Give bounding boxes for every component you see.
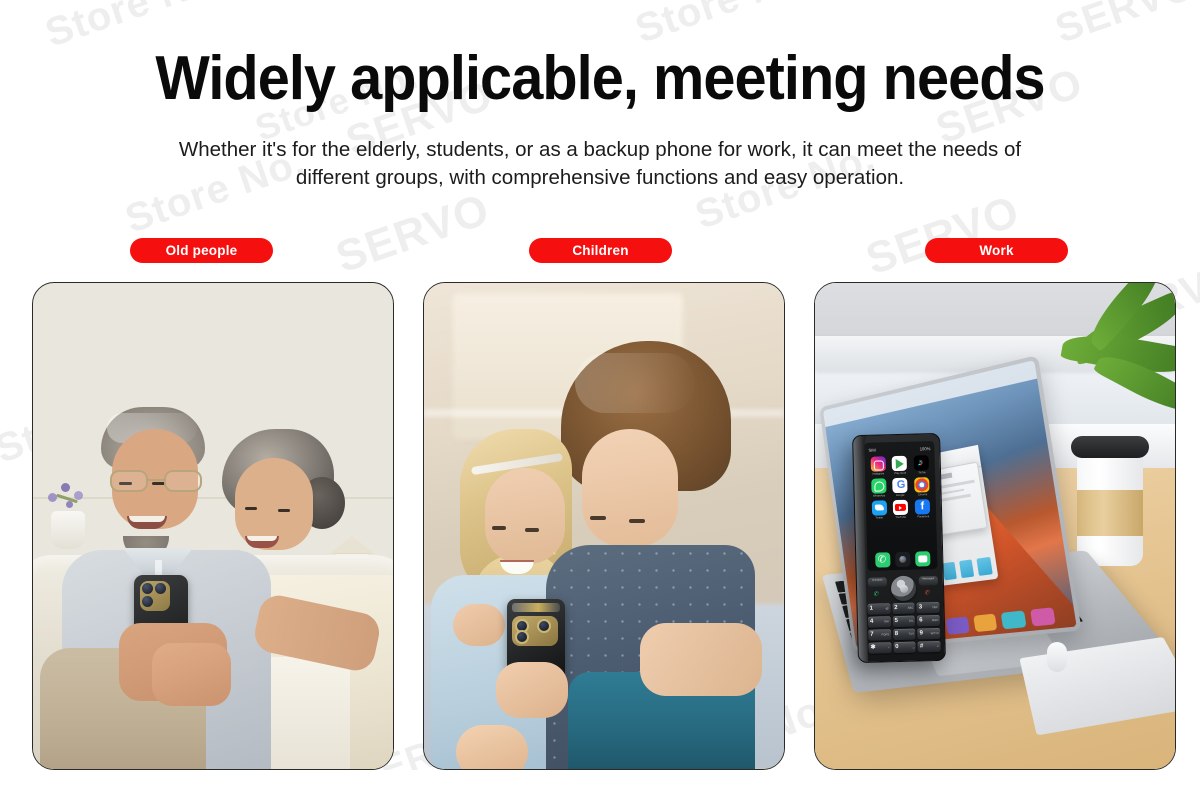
key-number: 3 <box>918 603 922 612</box>
children-hands <box>496 662 568 718</box>
key-sublabel: ↵ <box>936 644 938 648</box>
app-tiktok[interactable]: TikTok <box>912 455 931 474</box>
key-number: # <box>919 642 923 651</box>
dpad-navigation-wheel[interactable] <box>890 575 916 601</box>
woman-eye-left <box>245 507 257 510</box>
phone-screen[interactable]: SIM 100% Instagram Play store <box>864 441 937 571</box>
phone-icon[interactable] <box>874 552 889 567</box>
key-sublabel: GHI <box>884 619 889 623</box>
key-8[interactable]: 8TUV <box>892 628 915 640</box>
key-number: 5 <box>894 617 898 626</box>
instagram-icon <box>870 456 885 471</box>
key-sublabel: ␣ <box>912 644 914 648</box>
app-label: Twitter <box>875 516 883 519</box>
key-4[interactable]: 4GHI <box>867 616 890 628</box>
app-twitter[interactable]: Twitter <box>869 500 888 519</box>
whatsapp-icon <box>871 478 886 493</box>
mouse-device[interactable] <box>1047 642 1067 672</box>
app-label: YouTube <box>896 515 907 518</box>
panel-old-people[interactable] <box>32 282 394 770</box>
panel-children[interactable] <box>423 282 785 770</box>
key-7[interactable]: 7PQRS <box>868 629 891 641</box>
call-answer-icon: ✆ <box>873 591 878 597</box>
key-number: ✱ <box>870 643 875 652</box>
softkey-right-label: Messages <box>918 577 937 580</box>
boy-arm <box>640 623 762 696</box>
phone-statusbar: SIM 100% <box>868 444 930 454</box>
key-number: 0 <box>895 643 899 652</box>
page-subtitle: Whether it's for the elderly, students, … <box>160 136 1040 191</box>
panel-work[interactable]: SIM 100% Instagram Play store <box>814 282 1176 770</box>
key-sublabel: DEF <box>932 605 938 609</box>
app-play-store[interactable]: Play store <box>890 455 909 474</box>
key-sublabel: MNO <box>931 618 938 622</box>
key-number: 7 <box>870 630 874 639</box>
scene-elderly-couple <box>33 283 393 769</box>
key-star[interactable]: ✱+ <box>868 642 891 654</box>
answer-call-key[interactable]: ✆ <box>868 589 887 598</box>
cup-lid <box>1071 436 1149 458</box>
softkey-left-label: Contacts <box>867 578 886 581</box>
app-label: TikTok <box>917 471 925 474</box>
messages-icon[interactable] <box>914 551 929 566</box>
key-number: 1 <box>869 604 873 613</box>
category-badge-row: Old people Children Work <box>0 238 1200 264</box>
key-sublabel: PQRS <box>881 632 889 636</box>
camera-icon[interactable] <box>894 551 909 566</box>
tiktok-icon <box>913 455 928 470</box>
key-3[interactable]: 3DEF <box>916 602 939 614</box>
key-sublabel: WXYZ <box>930 631 938 635</box>
hands-overlap <box>152 643 231 706</box>
girl-eye-right <box>525 528 539 532</box>
boy-eye-right <box>629 519 645 523</box>
camera-module <box>512 616 558 646</box>
app-chrome[interactable]: Chrome <box>912 477 931 496</box>
key-sublabel: TUV <box>908 631 914 635</box>
key-number: 4 <box>869 617 873 626</box>
key-9[interactable]: 9WXYZ <box>917 628 940 640</box>
app-label: Google <box>896 493 905 496</box>
google-icon <box>892 477 907 492</box>
key-number: 2 <box>894 604 898 613</box>
eyeglasses <box>110 470 202 492</box>
chrome-icon <box>914 477 929 492</box>
vase-decor <box>51 511 85 549</box>
cup-sleeve <box>1077 490 1143 536</box>
woman-eye-right <box>278 509 290 512</box>
panel-row: SIM 100% Instagram Play store <box>32 282 1180 770</box>
numeric-keypad: 1ꞏ@ 2ABC 3DEF 4GHI 5JKL 6MNO 7PQRS 8TUV … <box>867 602 940 654</box>
badge-work[interactable]: Work <box>925 238 1068 263</box>
app-label: Instagram <box>872 472 884 475</box>
key-sublabel: + <box>888 645 890 649</box>
girl-hand <box>453 604 505 646</box>
end-call-key[interactable]: ✆ <box>919 588 938 597</box>
girl-eye-left <box>492 526 506 530</box>
key-0[interactable]: 0␣ <box>893 641 916 653</box>
key-sublabel: ꞏ@ <box>885 606 889 610</box>
youtube-icon <box>893 499 908 514</box>
scene-work-desk: SIM 100% Instagram Play store <box>815 283 1175 769</box>
app-label: WhatsApp <box>872 494 884 497</box>
badge-old-people[interactable]: Old people <box>130 238 273 263</box>
facebook-icon <box>914 498 929 513</box>
scene-children <box>424 283 784 769</box>
app-whatsapp[interactable]: WhatsApp <box>869 478 888 497</box>
key-2[interactable]: 2ABC <box>892 602 915 614</box>
app-label: Chrome <box>917 493 927 496</box>
bottom-margin <box>0 770 1200 800</box>
softkey-right[interactable]: Messages <box>918 576 937 585</box>
key-5[interactable]: 5JKL <box>892 615 915 627</box>
key-sublabel: ABC <box>907 605 913 609</box>
app-instagram[interactable]: Instagram <box>868 456 887 475</box>
feature-phone-product[interactable]: SIM 100% Instagram Play store <box>852 433 946 663</box>
call-end-icon: ✆ <box>924 589 929 595</box>
phone-keypad-area: Contacts Messages ✆ ✆ 1ꞏ@ <box>866 574 940 658</box>
app-facebook[interactable]: Facebook <box>913 498 932 517</box>
coffee-cup <box>1077 448 1143 566</box>
twitter-icon <box>871 500 886 515</box>
key-1[interactable]: 1ꞏ@ <box>867 603 890 615</box>
key-number: 8 <box>894 630 898 639</box>
boy-face <box>582 429 678 547</box>
key-sublabel: JKL <box>908 618 913 622</box>
phone-dock <box>872 551 932 568</box>
key-6[interactable]: 6MNO <box>917 615 940 627</box>
key-number: 6 <box>919 616 923 625</box>
key-number: 9 <box>919 629 923 638</box>
statusbar-right: 100% <box>919 445 930 450</box>
badge-children[interactable]: Children <box>529 238 672 263</box>
app-google[interactable]: Google <box>890 477 909 496</box>
softkey-left[interactable]: Contacts <box>867 577 886 586</box>
app-youtube[interactable]: YouTube <box>891 499 910 518</box>
app-label: Facebook <box>917 515 929 518</box>
statusbar-left: SIM <box>868 447 876 452</box>
phone-app-grid: Instagram Play store TikTok <box>868 455 932 519</box>
camera-module <box>140 581 170 611</box>
boy-eye-left <box>590 516 606 520</box>
app-label: Play store <box>894 472 906 475</box>
play-store-icon <box>892 455 907 470</box>
key-hash[interactable]: #↵ <box>917 641 940 653</box>
page-title: Widely applicable, meeting needs <box>42 0 1158 110</box>
bare-foot <box>456 725 528 769</box>
phone-top-strip <box>512 603 560 612</box>
